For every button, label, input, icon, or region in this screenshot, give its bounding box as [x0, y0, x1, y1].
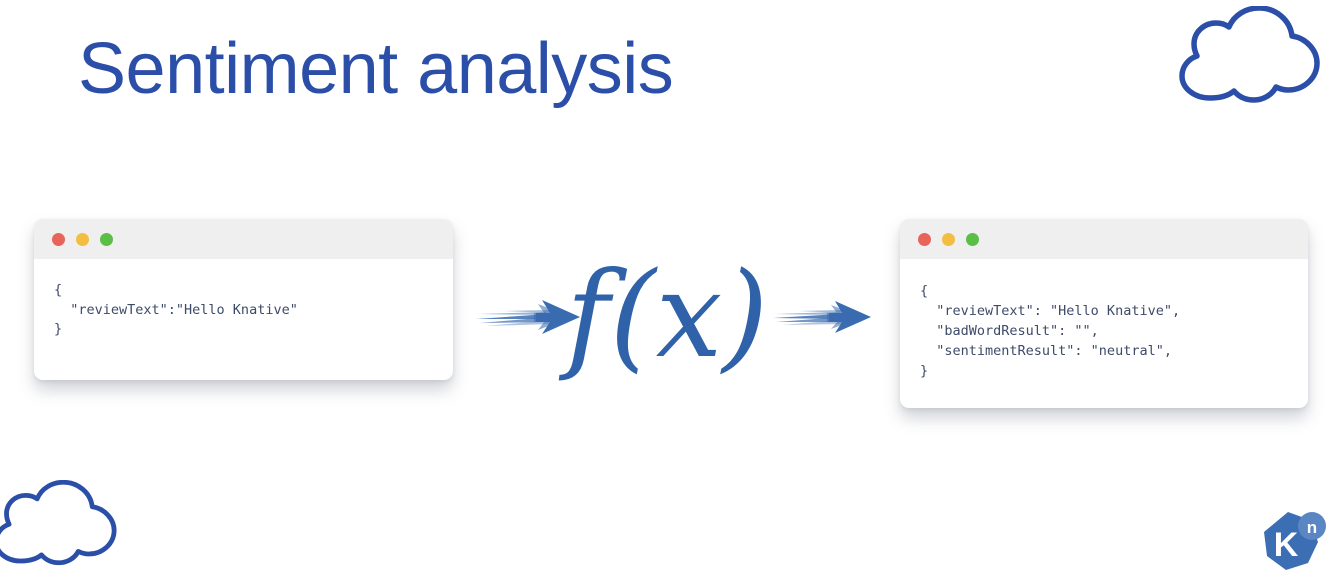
maximize-button-icon[interactable]: [966, 233, 979, 246]
slide-canvas: Sentiment analysis { "reviewText":"Hello…: [0, 0, 1341, 585]
function-label: f(x): [566, 243, 762, 388]
input-json-window: { "reviewText":"Hello Knative" }: [34, 219, 453, 380]
minimize-button-icon[interactable]: [76, 233, 89, 246]
close-button-icon[interactable]: [918, 233, 931, 246]
knative-logo-superscript: n: [1307, 518, 1317, 537]
arrow-right-icon-output: [773, 294, 873, 340]
window-body: { "reviewText": "Hello Knative", "badWor…: [900, 259, 1308, 399]
window-titlebar: [900, 219, 1308, 259]
window-titlebar: [34, 219, 453, 259]
input-json-code: { "reviewText":"Hello Knative" }: [54, 281, 433, 340]
knative-logo-letter: K: [1274, 526, 1299, 564]
close-button-icon[interactable]: [52, 233, 65, 246]
minimize-button-icon[interactable]: [942, 233, 955, 246]
cloud-icon-bottom-left: [0, 480, 122, 572]
window-body: { "reviewText":"Hello Knative" }: [34, 259, 453, 358]
output-json-window: { "reviewText": "Hello Knative", "badWor…: [900, 219, 1308, 408]
output-json-code: { "reviewText": "Hello Knative", "badWor…: [920, 281, 1288, 381]
page-title: Sentiment analysis: [78, 28, 673, 111]
cloud-icon-top-right: [1166, 6, 1326, 110]
knative-logo: K n: [1258, 508, 1328, 578]
maximize-button-icon[interactable]: [100, 233, 113, 246]
